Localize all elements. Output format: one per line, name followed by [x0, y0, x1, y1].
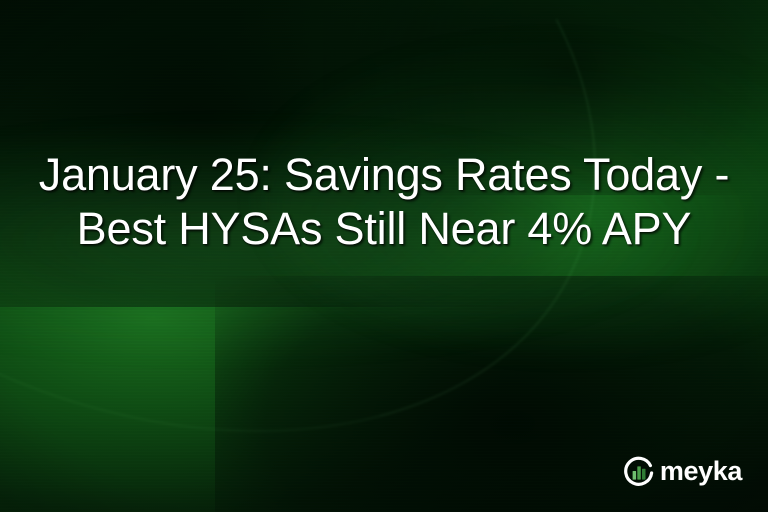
article-banner: January 25: Savings Rates Today - Best H…: [0, 0, 768, 512]
meyka-wordmark: meyka: [660, 458, 742, 487]
meyka-logo[interactable]: meyka: [623, 456, 742, 488]
banner-headline: January 25: Savings Rates Today - Best H…: [0, 148, 768, 256]
meyka-bar-chart-circle-icon: [623, 456, 655, 488]
